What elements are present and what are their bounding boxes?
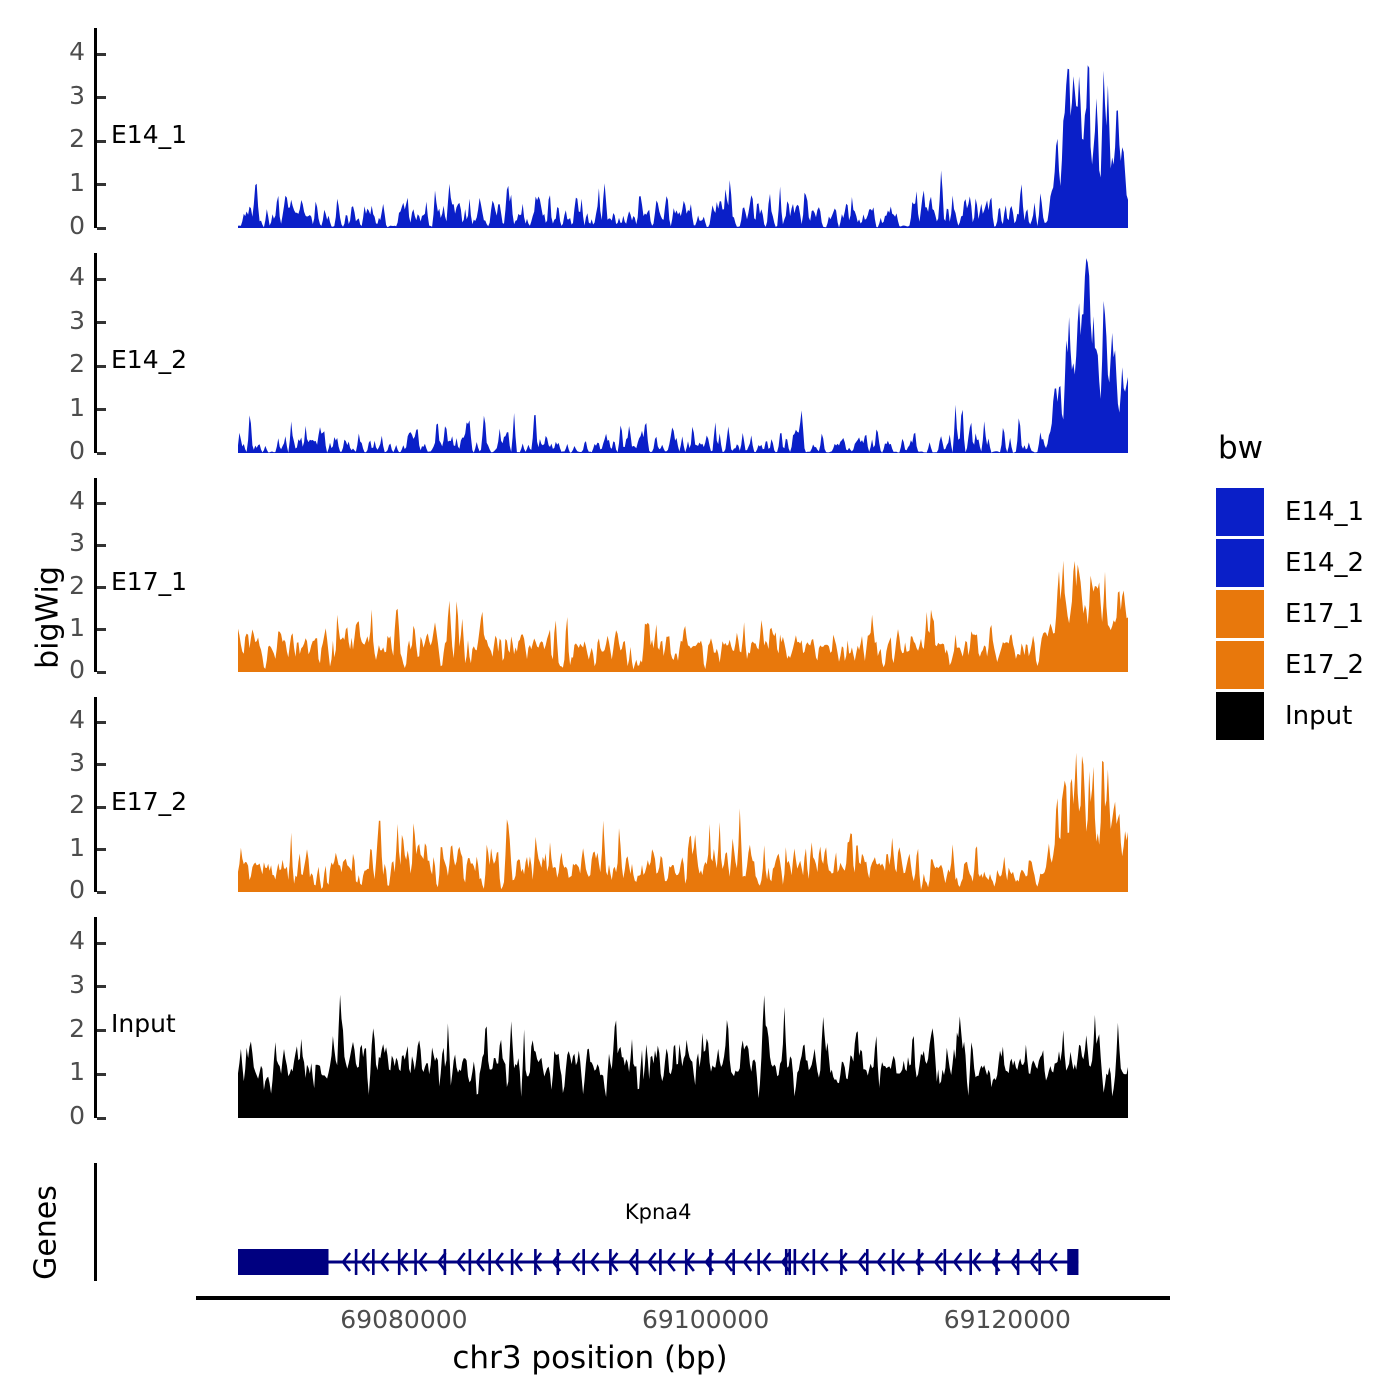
x-axis-line	[196, 1296, 1170, 1300]
y-tick	[97, 628, 106, 631]
y-tick	[97, 1073, 106, 1076]
track-label-input: Input	[111, 1009, 176, 1038]
coverage-area-e14_1	[0, 0, 1400, 1400]
legend-swatch-e14_2	[1216, 539, 1264, 587]
y-tick-label: 3	[45, 748, 85, 777]
y-tick	[97, 408, 106, 411]
y-tick	[97, 321, 106, 324]
y-tick-label: 3	[45, 81, 85, 110]
x-tick-label: 69100000	[596, 1305, 816, 1334]
y-tick	[97, 985, 106, 988]
y-tick-label: 0	[45, 875, 85, 904]
y-tick-label: 2	[45, 571, 85, 600]
gene-label: Kpna4	[558, 1200, 758, 1224]
legend-label: E17_1	[1285, 599, 1364, 629]
y-tick-label: 1	[45, 168, 85, 197]
y-tick-label: 0	[45, 1101, 85, 1130]
y-tick-label: 2	[45, 124, 85, 153]
track-label-e14_2: E14_2	[111, 345, 187, 374]
y-tick	[97, 1029, 106, 1032]
y-tick	[97, 671, 106, 674]
y-tick-label: 2	[45, 349, 85, 378]
y-tick-label: 1	[45, 1057, 85, 1086]
y-tick-label: 3	[45, 528, 85, 557]
y-tick-label: 2	[45, 1014, 85, 1043]
y-axis-spine-e14_2	[94, 253, 97, 453]
x-axis-label: chr3 position (bp)	[0, 1340, 1180, 1376]
y-tick	[97, 227, 106, 230]
y-tick-label: 1	[45, 393, 85, 422]
y-tick-label: 4	[45, 486, 85, 515]
y-tick-label: 0	[45, 436, 85, 465]
y-tick-label: 4	[45, 926, 85, 955]
x-tick-label: 69080000	[294, 1305, 514, 1334]
y-tick	[97, 806, 106, 809]
legend-label: E17_2	[1285, 650, 1364, 680]
gene-model-kpna4	[0, 0, 1400, 1400]
legend-item-input[interactable]: Input	[1216, 692, 1364, 740]
y-tick	[97, 53, 106, 56]
legend-title: bw	[1218, 430, 1364, 466]
y-tick-label: 2	[45, 790, 85, 819]
y-tick-label: 3	[45, 306, 85, 335]
y-tick-label: 0	[45, 655, 85, 684]
coverage-area-e17_1	[0, 0, 1400, 1400]
track-label-e17_2: E17_2	[111, 787, 187, 816]
legend-swatch-e17_2	[1216, 641, 1264, 689]
legend-label: Input	[1285, 701, 1352, 731]
track-label-e14_1: E14_1	[111, 120, 187, 149]
track-label-e17_1: E17_1	[111, 567, 187, 596]
coverage-area-e17_2	[0, 0, 1400, 1400]
y-tick	[97, 452, 106, 455]
coverage-area-input	[0, 0, 1400, 1400]
y-tick-label: 4	[45, 262, 85, 291]
legend-item-e14_2[interactable]: E14_2	[1216, 539, 1364, 587]
y-axis-label-genes: Genes	[29, 1163, 64, 1303]
y-tick	[97, 848, 106, 851]
y-tick	[97, 1117, 106, 1120]
x-tick-label: 69120000	[897, 1305, 1117, 1334]
legend: bw E14_1E14_2E17_1E17_2Input	[1216, 430, 1364, 743]
y-tick	[97, 763, 106, 766]
y-tick	[97, 544, 106, 547]
y-tick	[97, 140, 106, 143]
y-tick	[97, 278, 106, 281]
y-tick	[97, 502, 106, 505]
y-axis-spine-input	[94, 917, 97, 1118]
legend-item-e14_1[interactable]: E14_1	[1216, 488, 1364, 536]
y-axis-spine-e17_2	[94, 697, 97, 892]
legend-swatch-input	[1216, 692, 1264, 740]
y-tick-label: 3	[45, 970, 85, 999]
y-axis-spine-e17_1	[94, 478, 97, 672]
y-axis-spine-e14_1	[94, 28, 97, 228]
legend-label: E14_2	[1285, 548, 1364, 578]
y-tick-label: 1	[45, 833, 85, 862]
gene-axis-spine	[94, 1163, 97, 1281]
legend-swatch-e14_1	[1216, 488, 1264, 536]
y-tick-label: 4	[45, 37, 85, 66]
y-tick-label: 0	[45, 211, 85, 240]
y-tick	[97, 721, 106, 724]
coverage-area-e14_2	[0, 0, 1400, 1400]
legend-items: E14_1E14_2E17_1E17_2Input	[1216, 488, 1364, 740]
y-tick	[97, 96, 106, 99]
y-tick-label: 4	[45, 705, 85, 734]
y-tick	[97, 183, 106, 186]
y-tick	[97, 942, 106, 945]
y-tick	[97, 586, 106, 589]
legend-item-e17_2[interactable]: E17_2	[1216, 641, 1364, 689]
y-tick-label: 1	[45, 613, 85, 642]
y-tick	[97, 365, 106, 368]
legend-label: E14_1	[1285, 497, 1364, 527]
y-tick	[97, 891, 106, 894]
legend-swatch-e17_1	[1216, 590, 1264, 638]
legend-item-e17_1[interactable]: E17_1	[1216, 590, 1364, 638]
